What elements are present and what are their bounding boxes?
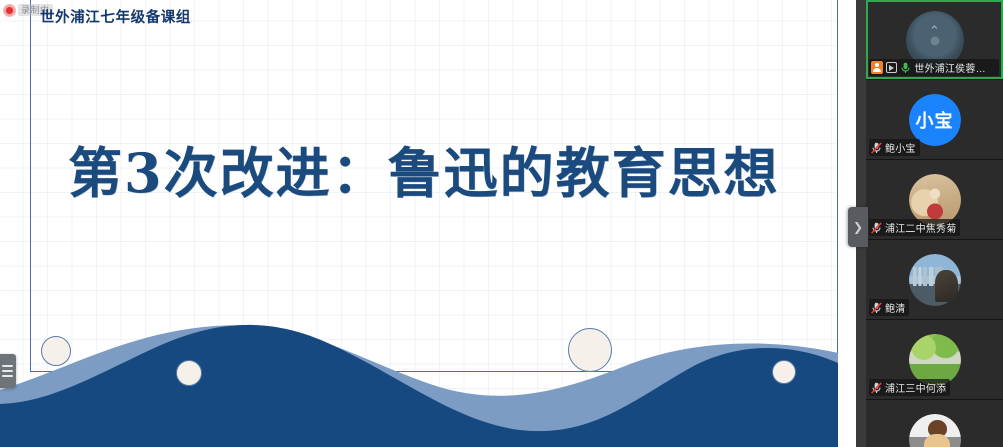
hamburger-line xyxy=(2,375,13,377)
participant-tile[interactable]: 小宝鲍小宝 xyxy=(866,80,1003,160)
participant-tile[interactable]: 鲍清 xyxy=(866,240,1003,320)
avatar xyxy=(909,174,961,226)
avatar: 小宝 xyxy=(909,94,961,146)
participant-tile[interactable]: ⌃世外浦江侯蓉蓉的... xyxy=(866,0,1003,80)
avatar xyxy=(909,334,961,386)
avatar-initials: 小宝 xyxy=(909,94,961,146)
hamburger-line xyxy=(2,370,13,372)
participant-name-bar: 浦江二中焦秀菊 xyxy=(869,219,960,236)
host-icon xyxy=(871,61,883,74)
decorative-bubble xyxy=(41,336,71,366)
avatar xyxy=(909,254,961,306)
microphone-muted-icon[interactable] xyxy=(871,222,882,234)
participant-name: 浦江三中何添 xyxy=(885,380,946,395)
participant-video-rail[interactable]: ⌃世外浦江侯蓉蓉的...小宝鲍小宝浦江二中焦秀菊鲍清浦江三中何添 xyxy=(866,0,1003,447)
wave-svg xyxy=(0,272,866,447)
participant-name-bar: 鲍清 xyxy=(869,299,909,316)
slide-header-text: 世外浦江七年级备课组 xyxy=(40,6,191,27)
recording-dot-icon xyxy=(4,5,15,16)
microphone-icon[interactable] xyxy=(900,62,911,74)
participant-name-bar: 世外浦江侯蓉蓉的... xyxy=(869,59,999,76)
microphone-muted-icon[interactable] xyxy=(871,302,882,314)
decorative-bubble xyxy=(772,360,796,384)
avatar-photo xyxy=(909,254,961,306)
participant-name: 世外浦江侯蓉蓉的... xyxy=(914,60,995,75)
avatar-photo xyxy=(909,334,961,386)
participant-name-bar: 鲍小宝 xyxy=(869,139,920,156)
participant-name-bar: 浦江三中何添 xyxy=(869,379,950,396)
collapse-panel-toggle[interactable]: ❯ xyxy=(848,207,868,247)
chevron-right-icon: ❯ xyxy=(853,220,863,234)
participant-tile[interactable]: 浦江二中焦秀菊 xyxy=(866,160,1003,240)
participant-tile[interactable] xyxy=(866,400,1003,447)
microphone-muted-icon[interactable] xyxy=(871,382,882,394)
wave-decoration xyxy=(0,272,866,447)
participant-tile[interactable]: 浦江三中何添 xyxy=(866,320,1003,400)
slide-title: 第3次改进：鲁迅的教育思想 xyxy=(68,138,808,209)
participant-name: 鲍清 xyxy=(885,300,905,315)
avatar-dot xyxy=(930,36,939,45)
hamburger-menu-icon[interactable] xyxy=(0,354,16,388)
avatar xyxy=(909,414,961,447)
decorative-bubble xyxy=(568,328,612,372)
hamburger-line xyxy=(2,365,13,367)
shared-screen-stage[interactable]: 录制中 世外浦江七年级备课组 第3次改进：鲁迅的教育思想 xyxy=(0,0,866,447)
participant-name: 浦江二中焦秀菊 xyxy=(885,220,956,235)
participant-name: 鲍小宝 xyxy=(885,140,916,155)
screen-share-icon xyxy=(886,62,898,73)
microphone-muted-icon[interactable] xyxy=(871,142,882,154)
participant-list: ⌃世外浦江侯蓉蓉的...小宝鲍小宝浦江二中焦秀菊鲍清浦江三中何添 xyxy=(866,0,1003,447)
avatar-photo xyxy=(909,414,961,447)
decorative-bubble xyxy=(176,360,202,386)
avatar-photo xyxy=(909,174,961,226)
